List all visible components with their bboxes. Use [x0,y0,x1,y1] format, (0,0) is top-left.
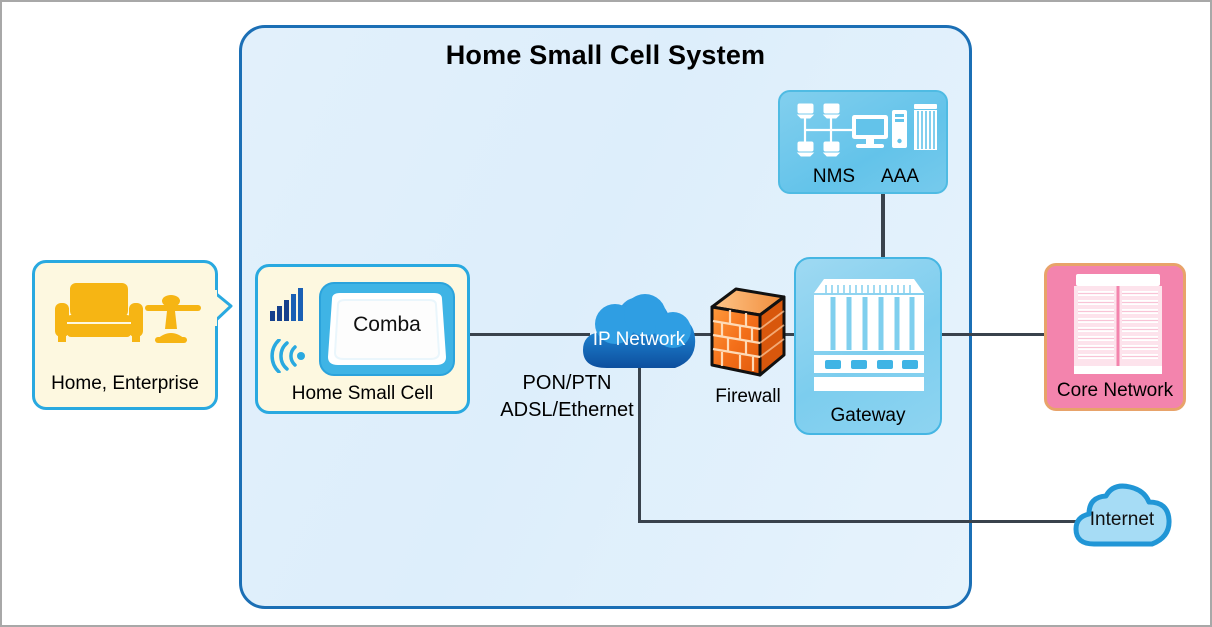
node-home-small-cell-label: Home Small Cell [258,383,467,405]
access-technology-label: PON/PTN ADSL/Ethernet [472,370,662,424]
callout-tail-icon [214,290,234,326]
internet-label: Internet [1070,509,1174,531]
server-rack-icon [1071,274,1165,378]
rack-chassis-icon [808,267,930,397]
firewall-icon[interactable] [708,285,788,383]
node-core-network-label: Core Network [1047,380,1183,402]
link-smallcell-to-ipnetwork [470,333,590,336]
ip-network-label: IP Network [577,329,701,351]
link-gateway-to-corenetwork [938,333,1048,336]
node-core-network[interactable]: Core Network [1044,263,1186,411]
diagram-canvas: Home Small Cell System [0,0,1212,627]
link-ipnetwork-to-internet-horizontal [638,520,1078,523]
device-brand-label: Comba [318,313,456,337]
node-nms-aaa[interactable]: NMS AAA [778,90,948,194]
node-home-small-cell[interactable]: Comba Home Small Cell [255,264,470,414]
access-technology-line-2: ADSL/Ethernet [472,397,662,424]
node-home-enterprise-label: Home, Enterprise [35,373,215,395]
access-technology-line-1: PON/PTN [472,370,662,397]
sofa-table-icon [53,277,203,357]
page-title: Home Small Cell System [239,40,972,71]
link-gateway-to-nms [881,192,885,260]
firewall-label: Firewall [688,386,808,408]
signal-bars-icon [270,287,308,321]
aaa-label: AAA [860,166,940,188]
node-gateway-label: Gateway [796,405,940,427]
nms-aaa-icon [790,98,940,160]
node-gateway[interactable]: Gateway [794,257,942,435]
wifi-icon [268,339,310,373]
node-home-enterprise[interactable]: Home, Enterprise [32,260,218,410]
